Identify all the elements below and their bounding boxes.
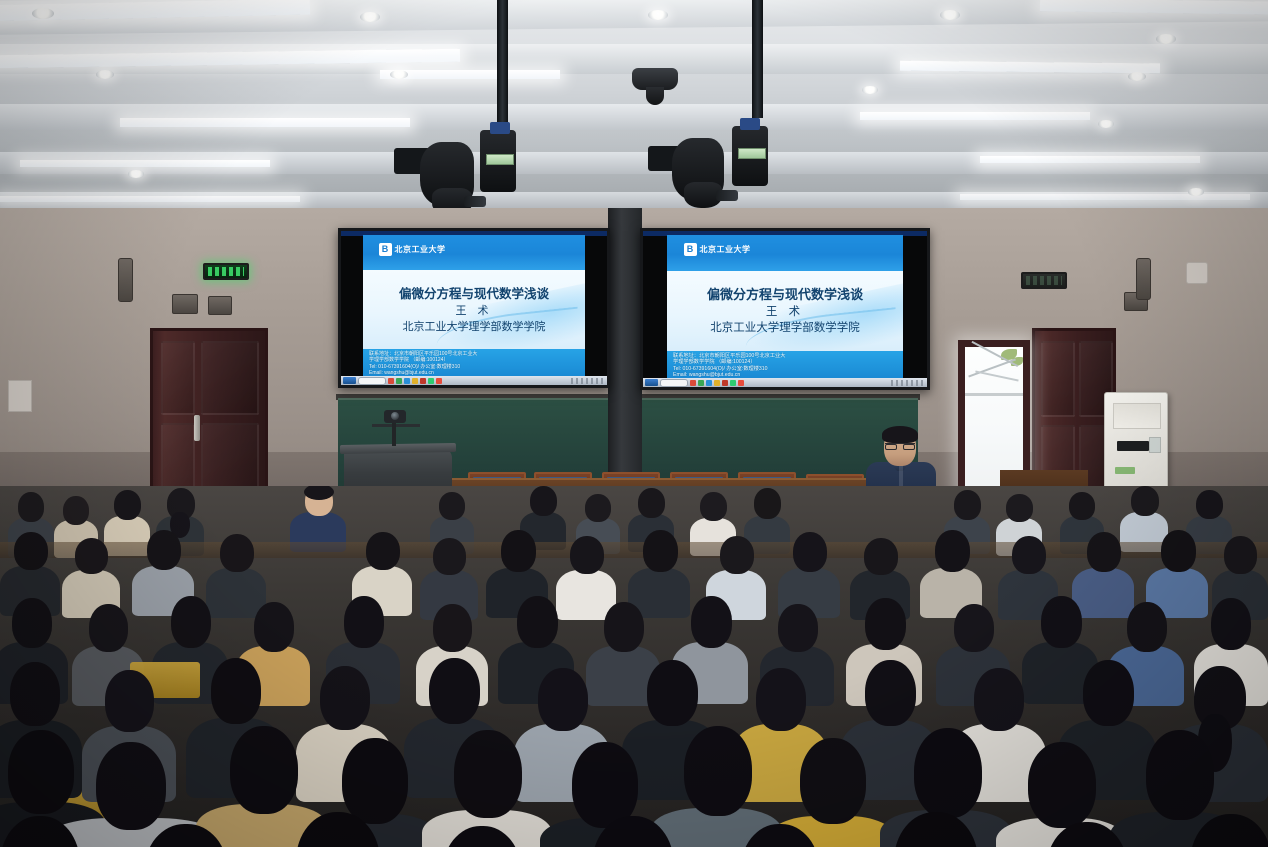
document-camera-base xyxy=(372,424,420,427)
taskbar-app-icon[interactable] xyxy=(420,378,426,384)
exit-sign-icon xyxy=(203,263,249,280)
system-tray[interactable] xyxy=(571,378,605,384)
taskbar-app-icon[interactable] xyxy=(690,380,696,386)
right-display[interactable]: B 北京工业大学 偏微分方程与现代数学浅谈 王 术 北京工业大学理学部数学学院 … xyxy=(640,228,930,390)
ceiling-downlight xyxy=(390,70,408,79)
slide-header: B 北京工业大学 xyxy=(667,235,903,271)
wall-speaker xyxy=(208,296,232,315)
audience-person-foreground xyxy=(0,816,120,847)
camera-mount-pole xyxy=(497,0,508,130)
slide-body: 偏微分方程与现代数学浅谈 王 术 北京工业大学理学部数学学院 xyxy=(667,271,903,351)
ceiling-camera-right xyxy=(648,120,783,218)
presenter-hair xyxy=(882,426,918,443)
ceiling-downlight xyxy=(1128,72,1146,81)
taskbar-app-icon[interactable] xyxy=(706,380,712,386)
taskbar-app-icon[interactable] xyxy=(714,380,720,386)
taskbar-app-icon[interactable] xyxy=(730,380,736,386)
left-display[interactable]: B 北京工业大学 偏微分方程与现代数学浅谈 王 术 北京工业大学理学部数学学院 … xyxy=(338,228,610,388)
wall-speaker xyxy=(172,294,198,314)
taskbar-app-icon[interactable] xyxy=(698,380,704,386)
ceiling-light-strip xyxy=(120,118,410,127)
exit-sign-icon xyxy=(1021,272,1067,289)
audience-person-foreground xyxy=(706,824,856,847)
dome-security-camera-icon xyxy=(632,68,678,90)
ceiling-downlight xyxy=(128,170,144,178)
ceiling-downlight xyxy=(1188,188,1204,196)
taskbar-app-icon[interactable] xyxy=(722,380,728,386)
slide-contact-block: 联系地址：北京市朝阳区平乐园100号北京工业大 学理学部数学学院 （邮编:100… xyxy=(363,349,585,376)
wall-speaker xyxy=(118,258,133,302)
taskbar-app-icon[interactable] xyxy=(412,378,418,384)
taskbar-app-icon[interactable] xyxy=(436,378,442,384)
audience-person-foreground xyxy=(1156,814,1268,847)
audience-person-foreground xyxy=(258,812,418,847)
camera-mount-pole xyxy=(752,0,763,118)
ceiling-downlight xyxy=(1156,34,1176,44)
audience-person xyxy=(920,530,982,614)
ceiling-light-strip xyxy=(0,196,300,202)
wall-panel xyxy=(8,380,32,412)
presentation-slide: B 北京工业大学 偏微分方程与现代数学浅谈 王 术 北京工业大学理学部数学学院 … xyxy=(363,235,585,376)
taskbar-search-input[interactable] xyxy=(358,377,386,385)
slide-affiliation: 北京工业大学理学部数学学院 xyxy=(667,319,903,335)
logo-mark: B xyxy=(379,243,392,256)
wall-panel xyxy=(1186,262,1208,284)
presentation-slide: B 北京工业大学 偏微分方程与现代数学浅谈 王 术 北京工业大学理学部数学学院 … xyxy=(667,235,903,378)
taskbar-app-icon[interactable] xyxy=(396,378,402,384)
document-camera-arm xyxy=(392,420,396,446)
ceiling-downlight xyxy=(862,86,878,94)
windows-taskbar[interactable] xyxy=(643,378,927,387)
audience-person-foreground xyxy=(1010,822,1166,847)
slide-body: 偏微分方程与现代数学浅谈 王 术 北京工业大学理学部数学学院 xyxy=(363,270,585,349)
taskbar-app-icon[interactable] xyxy=(738,380,744,386)
ceiling-downlight xyxy=(96,70,114,79)
glasses-icon xyxy=(885,443,915,450)
audience-person-foreground xyxy=(408,826,558,847)
logo-mark: B xyxy=(684,243,697,256)
logo-text: 北京工业大学 xyxy=(700,244,751,255)
ceiling xyxy=(0,0,1268,232)
slide-contact-block: 联系地址：北京市朝阳区平乐园100号北京工业大 学理学部数学学院 （邮编:100… xyxy=(667,351,903,378)
audience-person-foreground xyxy=(108,824,268,847)
ceiling-downlight xyxy=(648,10,668,20)
slide-presenter: 王 术 xyxy=(667,303,903,319)
logo-text: 北京工业大学 xyxy=(395,244,446,255)
center-pillar xyxy=(608,208,642,508)
university-logo: B 北京工业大学 xyxy=(379,243,446,256)
audience-area xyxy=(0,486,1268,847)
slide-presenter: 王 术 xyxy=(363,302,585,318)
audience-person xyxy=(62,538,120,614)
ceiling-light-strip xyxy=(860,112,1090,120)
taskbar-app-icon[interactable] xyxy=(428,378,434,384)
ceiling-downlight xyxy=(940,10,960,20)
lecture-hall-photo: B 北京工业大学 偏微分方程与现代数学浅谈 王 术 北京工业大学理学部数学学院 … xyxy=(0,0,1268,847)
start-button-icon[interactable] xyxy=(645,379,658,386)
taskbar-app-icon[interactable] xyxy=(388,378,394,384)
ceiling-downlight xyxy=(1098,120,1114,128)
taskbar-app-icon[interactable] xyxy=(404,378,410,384)
university-logo: B 北京工业大学 xyxy=(684,243,751,256)
taskbar-search-input[interactable] xyxy=(660,379,688,387)
ceiling-downlight xyxy=(360,12,380,22)
audience-person xyxy=(778,532,840,614)
door-handle-icon xyxy=(194,415,200,441)
ceiling-light-strip xyxy=(960,194,1250,200)
document-camera-lens-icon xyxy=(391,412,399,420)
audience-person-foreground xyxy=(856,812,1016,847)
system-tray[interactable] xyxy=(891,380,925,386)
ceiling-light-strip xyxy=(980,156,1200,163)
ceiling-downlight xyxy=(32,8,54,19)
ceiling-light-strip xyxy=(20,160,270,167)
slide-title: 偏微分方程与现代数学浅谈 xyxy=(667,284,903,303)
ceiling-camera-left xyxy=(394,126,524,221)
windows-taskbar[interactable] xyxy=(341,376,607,385)
slide-title: 偏微分方程与现代数学浅谈 xyxy=(363,283,585,302)
audience-person xyxy=(290,486,346,548)
slide-header: B 北京工业大学 xyxy=(363,235,585,270)
slide-affiliation: 北京工业大学理学部数学学院 xyxy=(363,318,585,334)
start-button-icon[interactable] xyxy=(343,377,356,384)
audience-person-foreground xyxy=(556,816,712,847)
wall-speaker xyxy=(1136,258,1151,300)
